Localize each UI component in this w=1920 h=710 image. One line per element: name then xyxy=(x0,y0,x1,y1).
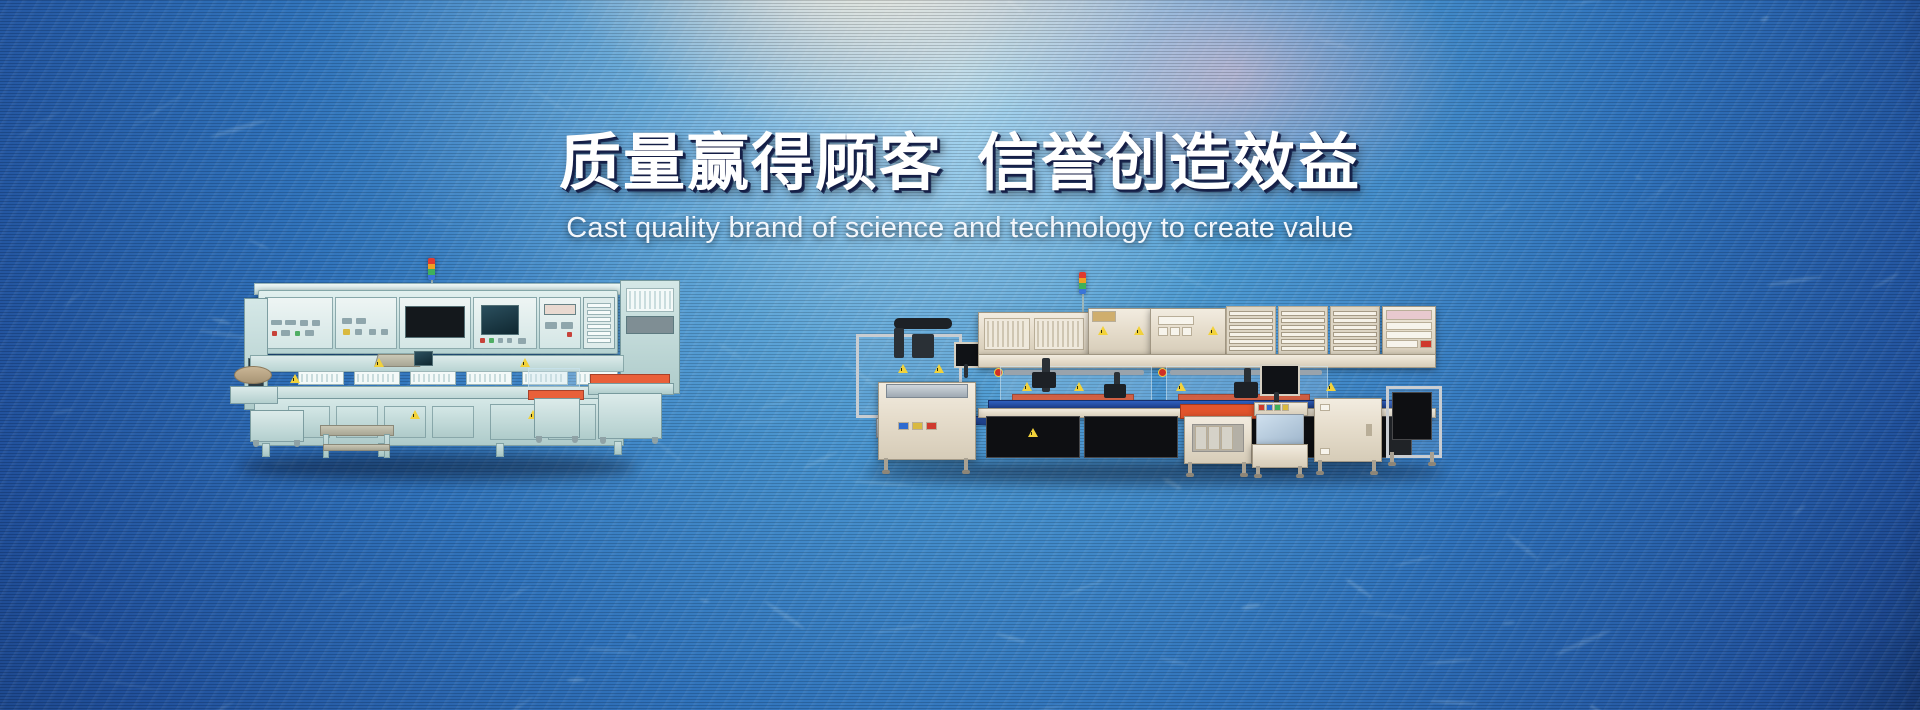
warning-triangle-icon xyxy=(520,358,530,367)
production-line-left xyxy=(228,258,728,493)
headline-part-1: 质量赢得顾客 xyxy=(559,126,943,199)
cabinet-label xyxy=(1092,311,1116,322)
pick-place-head xyxy=(1104,384,1126,398)
robot-arm xyxy=(894,328,904,358)
display-panel xyxy=(399,297,471,349)
rail-vent xyxy=(466,371,512,385)
machine-shadow xyxy=(866,460,1446,484)
rail-vent xyxy=(410,371,456,385)
hero-banner: 质量赢得顾客信誉创造效益 Cast quality brand of scien… xyxy=(0,0,1920,710)
warning-triangle-icon xyxy=(934,364,944,373)
pick-place-head xyxy=(1032,372,1056,388)
pick-place-head xyxy=(1234,382,1258,398)
output-cart xyxy=(534,398,580,438)
warning-triangle-icon xyxy=(1022,382,1032,391)
hmi-pedestal xyxy=(1252,444,1308,468)
warning-triangle-icon xyxy=(290,374,300,383)
andon-signal-tower-icon xyxy=(428,258,435,280)
warning-triangle-icon xyxy=(1028,428,1038,437)
hmi-panel[interactable] xyxy=(473,297,537,349)
side-cart xyxy=(230,386,278,404)
control-panel xyxy=(265,297,333,349)
control-panel xyxy=(335,297,397,349)
cabinet-label xyxy=(1386,310,1432,320)
component-rack xyxy=(583,297,615,349)
warning-triangle-icon xyxy=(1208,326,1218,335)
warning-triangle-icon xyxy=(1134,326,1144,335)
work-plate xyxy=(886,384,968,398)
warning-triangle-icon xyxy=(1326,382,1336,391)
hmi-touchscreen[interactable] xyxy=(1256,414,1304,446)
headline-part-2: 信誉创造效益 xyxy=(977,126,1361,199)
floor-table xyxy=(320,425,394,436)
machine-screen xyxy=(405,306,465,338)
page-title: 质量赢得顾客信誉创造效益 xyxy=(0,132,1920,194)
page-subtitle: Cast quality brand of science and techno… xyxy=(0,212,1920,245)
small-monitor xyxy=(414,351,433,366)
machine-upper-body xyxy=(258,290,618,354)
warning-triangle-icon xyxy=(898,364,908,373)
cabinet-vent xyxy=(626,288,674,312)
warning-triangle-icon xyxy=(374,358,384,367)
warning-triangle-icon xyxy=(1176,382,1186,391)
component-rack xyxy=(1226,306,1276,356)
rail-vent xyxy=(298,371,344,385)
warning-triangle-icon xyxy=(1098,326,1108,335)
andon-signal-tower-icon xyxy=(1079,272,1086,294)
warning-triangle-icon xyxy=(410,410,420,419)
cabinet-vent xyxy=(984,318,1030,350)
warning-triangle-icon xyxy=(1074,382,1084,391)
production-line-right xyxy=(836,272,1486,487)
cabinet-vent xyxy=(1034,318,1084,350)
loading-turntable xyxy=(234,366,272,384)
instrument-panel xyxy=(539,297,581,349)
side-cart xyxy=(250,410,304,442)
output-cart xyxy=(598,393,662,439)
base-cabinet xyxy=(1084,416,1178,458)
hmi-touchscreen[interactable] xyxy=(481,305,519,335)
cabinet-label xyxy=(1158,316,1194,325)
banner-copy: 质量赢得顾客信誉创造效益 Cast quality brand of scien… xyxy=(0,132,1920,245)
base-cabinet xyxy=(986,416,1080,458)
component-rack xyxy=(1278,306,1328,356)
rail-vent xyxy=(354,371,400,385)
robot-head xyxy=(912,334,934,358)
operator-monitor xyxy=(1260,364,1300,396)
machine-shadow xyxy=(238,454,638,480)
component-rack xyxy=(1330,306,1380,356)
